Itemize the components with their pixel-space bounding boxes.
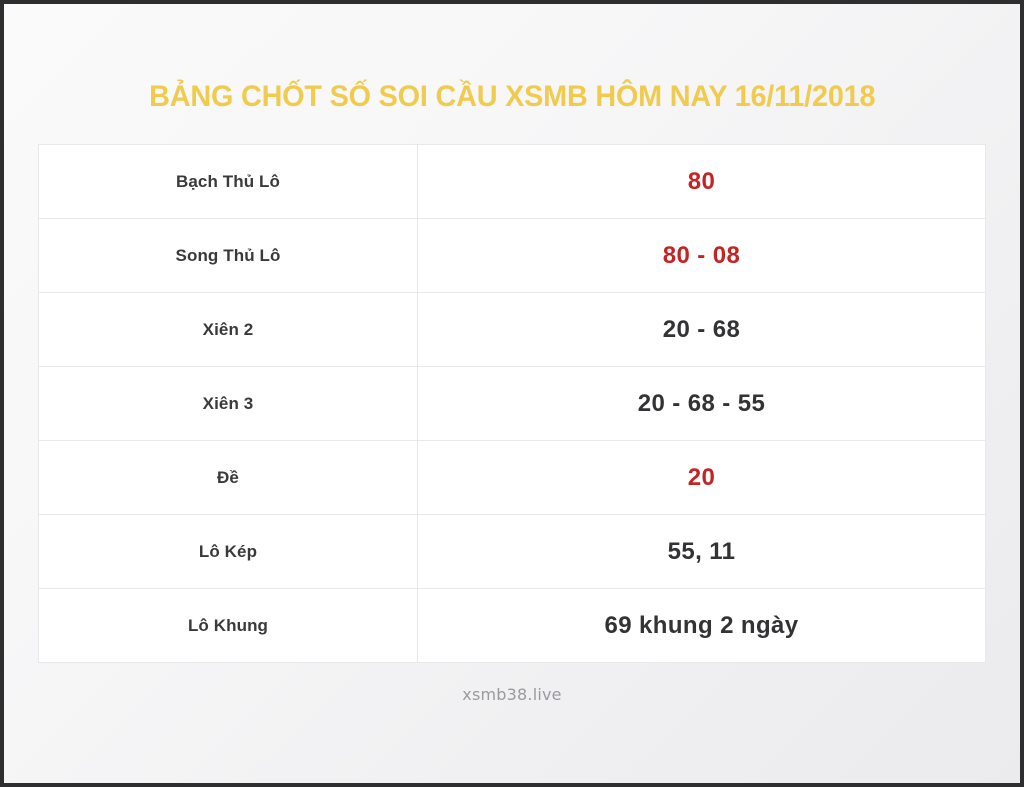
result-table-wrapper: Bạch Thủ Lô 80 Song Thủ Lô 80 - 08 Xiên …	[38, 144, 986, 663]
table-row: Đề 20	[39, 441, 986, 515]
row-label: Song Thủ Lô	[39, 219, 418, 293]
row-label: Lô Khung	[39, 589, 418, 663]
row-label: Bạch Thủ Lô	[39, 145, 418, 219]
table-row: Song Thủ Lô 80 - 08	[39, 219, 986, 293]
table-row: Bạch Thủ Lô 80	[39, 145, 986, 219]
table-row: Xiên 2 20 - 68	[39, 293, 986, 367]
row-value: 80	[418, 145, 986, 219]
row-label: Xiên 3	[39, 367, 418, 441]
row-value: 55, 11	[418, 515, 986, 589]
row-value: 80 - 08	[418, 219, 986, 293]
row-label: Xiên 2	[39, 293, 418, 367]
row-label: Đề	[39, 441, 418, 515]
row-value: 20 - 68	[418, 293, 986, 367]
site-watermark: xsmb38.live	[462, 685, 561, 704]
table-row: Lô Kép 55, 11	[39, 515, 986, 589]
table-row: Xiên 3 20 - 68 - 55	[39, 367, 986, 441]
page-title: BẢNG CHỐT SỐ SOI CẦU XSMB HÔM NAY 16/11/…	[149, 82, 875, 112]
table-body: Bạch Thủ Lô 80 Song Thủ Lô 80 - 08 Xiên …	[39, 145, 986, 663]
row-value: 69 khung 2 ngày	[418, 589, 986, 663]
row-value: 20 - 68 - 55	[418, 367, 986, 441]
page-container: BẢNG CHỐT SỐ SOI CẦU XSMB HÔM NAY 16/11/…	[0, 0, 1024, 787]
row-value: 20	[418, 441, 986, 515]
table-row: Lô Khung 69 khung 2 ngày	[39, 589, 986, 663]
row-label: Lô Kép	[39, 515, 418, 589]
soi-cau-result-table: Bạch Thủ Lô 80 Song Thủ Lô 80 - 08 Xiên …	[38, 144, 986, 663]
